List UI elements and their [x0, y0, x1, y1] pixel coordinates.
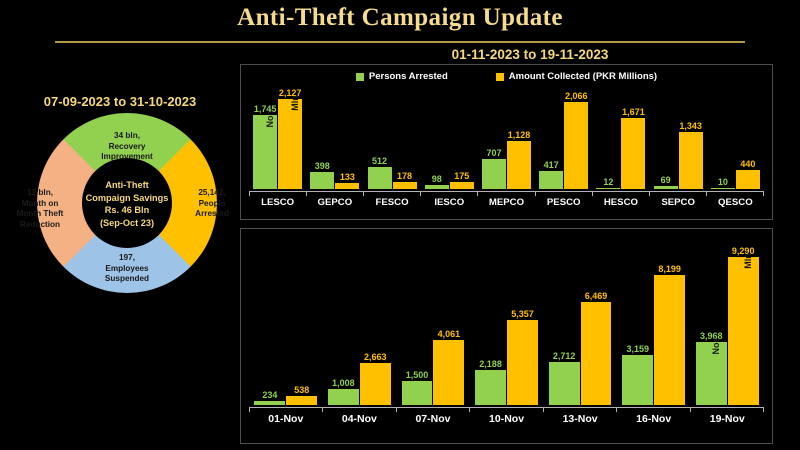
- chart-legend: Persons Arrested Amount Collected (PKR M…: [241, 71, 772, 82]
- bar-value-label: 1,671: [622, 107, 645, 117]
- bar-value-label: 3,159: [626, 344, 649, 354]
- bar-group: 2,1885,357: [470, 237, 544, 405]
- bar[interactable]: [507, 141, 531, 189]
- bar[interactable]: [286, 396, 317, 405]
- donut-center-text: Anti-Theft Compaign Savings Rs. 46 Bln (…: [75, 179, 179, 229]
- bar-slot[interactable]: 178: [393, 87, 417, 189]
- bar-slot[interactable]: 512: [368, 87, 392, 189]
- bar-slot[interactable]: 1,500: [402, 237, 433, 405]
- x-axis-label: 19-Nov: [690, 413, 764, 425]
- x-tick: [307, 192, 364, 196]
- bar-value-label: 234: [262, 390, 277, 400]
- donut-center-line2: Compaign Savings: [75, 192, 179, 205]
- bar-slot[interactable]: 133: [335, 87, 359, 189]
- bar-value-label: 2,712: [553, 351, 576, 361]
- bar-group: 1,745Nos2,127Mln: [249, 87, 306, 189]
- donut-label-line: 34 bln,: [77, 131, 177, 142]
- bar-group: 1,5004,061: [396, 237, 470, 405]
- bar-slot[interactable]: 2,127Mln: [278, 87, 302, 189]
- bar-group: 691,343: [650, 87, 707, 189]
- bar[interactable]: [360, 363, 391, 405]
- x-axis-label: 13-Nov: [543, 413, 617, 425]
- legend-label-amount-collected: Amount Collected (PKR Millions): [509, 71, 657, 82]
- date-range-left: 07-09-2023 to 31-10-2023: [10, 94, 230, 109]
- bar[interactable]: [328, 389, 359, 405]
- bar-slot[interactable]: 2,663: [360, 237, 391, 405]
- bar[interactable]: [654, 275, 685, 405]
- bar-slot[interactable]: 1,343: [679, 87, 703, 189]
- slide-canvas: Anti-Theft Campaign Update 01-11-2023 to…: [0, 0, 800, 450]
- bar[interactable]: [450, 182, 474, 189]
- legend-swatch-green: [356, 73, 364, 81]
- bar[interactable]: Mln: [278, 99, 302, 189]
- bar[interactable]: [475, 370, 506, 405]
- bar-unit-tag: Nos: [265, 111, 275, 128]
- x-tick: [617, 408, 690, 412]
- x-axis-label: GEPCO: [306, 197, 363, 208]
- bar-slot[interactable]: 3,159: [622, 237, 653, 405]
- bar[interactable]: [549, 362, 580, 405]
- bar-value-label: 2,066: [565, 91, 588, 101]
- donut-label-line: Employees: [77, 264, 177, 275]
- x-tick: [470, 408, 543, 412]
- bar-value-label: 133: [340, 172, 355, 182]
- bar[interactable]: [654, 186, 678, 189]
- bar-slot[interactable]: 3,968Nos: [696, 237, 727, 405]
- bar-group: 4172,066: [535, 87, 592, 189]
- bar-value-label: 69: [661, 175, 671, 185]
- bar-value-label: 512: [372, 156, 387, 166]
- bar[interactable]: [679, 132, 703, 189]
- bar-slot[interactable]: 398: [310, 87, 334, 189]
- bar-group: 121,671: [592, 87, 649, 189]
- x-tick: [397, 408, 470, 412]
- discos-chart-panel: Persons Arrested Amount Collected (PKR M…: [240, 64, 773, 220]
- donut-label-theft-reduction: 12 bln,Month onMonth TheftReduction: [5, 188, 75, 230]
- discos-x-ticks: [249, 192, 764, 196]
- donut-label-employees-suspended: 197,EmployeesSuspended: [77, 253, 177, 285]
- bar-slot[interactable]: 9,290Mln: [728, 237, 759, 405]
- x-axis-label: HESCO: [592, 197, 649, 208]
- bar-slot[interactable]: 69: [654, 87, 678, 189]
- bar[interactable]: [621, 118, 645, 189]
- donut-label-line: 197,: [77, 253, 177, 264]
- bar-value-label: 1,008: [332, 378, 355, 388]
- donut-label-line: Reduction: [5, 220, 75, 231]
- donut-label-line: Arrested: [177, 209, 247, 220]
- donut-label-line: 12 bln,: [5, 188, 75, 199]
- bar-unit-tag: Mln: [743, 253, 753, 269]
- bar-slot[interactable]: 417: [539, 87, 563, 189]
- bar-slot[interactable]: 10: [711, 87, 735, 189]
- bar-group: 3,1598,199: [617, 237, 691, 405]
- title-divider: [55, 41, 745, 43]
- daily-plot-area: 2345381,0082,6631,5004,0612,1885,3572,71…: [249, 237, 764, 405]
- bar[interactable]: [539, 171, 563, 189]
- x-axis-label: QESCO: [707, 197, 764, 208]
- bar[interactable]: [425, 185, 449, 189]
- bar-value-label: 8,199: [658, 264, 681, 274]
- bar-unit-tag: Nos: [711, 337, 721, 354]
- bar-value-label: 4,061: [438, 329, 461, 339]
- x-tick: [691, 408, 764, 412]
- bar-slot[interactable]: 1,745Nos: [253, 87, 277, 189]
- bar-group: 234538: [249, 237, 323, 405]
- bar-value-label: 1,500: [406, 370, 429, 380]
- donut-label-recovery-improvement: 34 bln,RecoveryImprovement: [77, 131, 177, 163]
- x-axis-label: PESCO: [535, 197, 592, 208]
- x-tick: [544, 408, 617, 412]
- x-axis-label: 01-Nov: [249, 413, 323, 425]
- bar-group: 2,7126,469: [543, 237, 617, 405]
- bar-value-label: 6,469: [585, 291, 608, 301]
- donut-label-line: Recovery: [77, 142, 177, 153]
- bar[interactable]: [482, 159, 506, 189]
- bar[interactable]: [622, 355, 653, 405]
- donut-center-line3: Rs. 46 Bln: [75, 204, 179, 217]
- donut-label-line: Suspended: [77, 274, 177, 285]
- bar[interactable]: [393, 182, 417, 190]
- bar[interactable]: Nos: [253, 115, 277, 189]
- bar-group: 7071,128: [478, 87, 535, 189]
- bar-slot[interactable]: 12: [596, 87, 620, 189]
- legend-item-amount-collected: Amount Collected (PKR Millions): [496, 71, 657, 82]
- bar[interactable]: [736, 170, 760, 189]
- bar-value-label: 398: [315, 161, 330, 171]
- bar-slot[interactable]: 5,357: [507, 237, 538, 405]
- bar-value-label: 178: [397, 171, 412, 181]
- x-tick: [249, 408, 323, 412]
- bar-group: 512178: [363, 87, 420, 189]
- bar-value-label: 707: [486, 148, 501, 158]
- bar-slot[interactable]: 1,671: [621, 87, 645, 189]
- x-tick: [536, 192, 593, 196]
- bar-slot[interactable]: 2,712: [549, 237, 580, 405]
- x-axis-label: 10-Nov: [470, 413, 544, 425]
- bar[interactable]: [368, 167, 392, 189]
- daily-chart-panel: 2345381,0082,6631,5004,0612,1885,3572,71…: [240, 228, 773, 444]
- bar-value-label: 538: [294, 385, 309, 395]
- bar-unit-tag: Mln: [290, 96, 300, 112]
- donut-label-line: Month on: [5, 199, 75, 210]
- bar-slot[interactable]: 1,128: [507, 87, 531, 189]
- bar-group: 3,968Nos9,290Mln: [690, 237, 764, 405]
- donut-label-line: 25,142,: [177, 188, 247, 199]
- discos-plot-area: 1,745Nos2,127Mln398133512178981757071,12…: [249, 87, 764, 189]
- bar[interactable]: [402, 381, 433, 405]
- bar[interactable]: [596, 188, 620, 189]
- bar-group: 10440: [707, 87, 764, 189]
- donut-label-people-arrested: 25,142,PeopleArrested: [177, 188, 247, 220]
- bar[interactable]: [335, 183, 359, 189]
- x-tick: [650, 192, 707, 196]
- bar-value-label: 440: [740, 159, 755, 169]
- x-tick: [364, 192, 421, 196]
- donut-label-line: People: [177, 199, 247, 210]
- page-title: Anti-Theft Campaign Update: [0, 4, 800, 32]
- x-axis-label: 04-Nov: [323, 413, 397, 425]
- bar-slot[interactable]: 2,066: [564, 87, 588, 189]
- x-tick: [478, 192, 535, 196]
- bar-value-label: 175: [454, 171, 469, 181]
- bar[interactable]: [433, 340, 464, 405]
- x-axis-label: LESCO: [249, 197, 306, 208]
- daily-x-labels: 01-Nov04-Nov07-Nov10-Nov13-Nov16-Nov19-N…: [249, 413, 764, 425]
- bar-slot[interactable]: 707: [482, 87, 506, 189]
- x-axis-label: IESCO: [421, 197, 478, 208]
- bar[interactable]: Mln: [728, 257, 759, 405]
- bar-value-label: 98: [432, 174, 442, 184]
- bar-value-label: 2,188: [479, 359, 502, 369]
- bar-slot[interactable]: 2,188: [475, 237, 506, 405]
- x-tick: [323, 408, 396, 412]
- donut-label-line: Month Theft: [5, 209, 75, 220]
- bar-group: 398133: [306, 87, 363, 189]
- x-tick: [593, 192, 650, 196]
- bar-value-label: 417: [544, 160, 559, 170]
- bar-value-label: 2,663: [364, 352, 387, 362]
- campaign-savings-donut: Anti-Theft Compaign Savings Rs. 46 Bln (…: [37, 113, 217, 293]
- bar-value-label: 12: [603, 177, 613, 187]
- daily-x-ticks: [249, 408, 764, 412]
- bar-value-label: 5,357: [511, 309, 534, 319]
- legend-item-persons-arrested: Persons Arrested: [356, 71, 448, 82]
- bar-slot[interactable]: 175: [450, 87, 474, 189]
- bar[interactable]: [507, 320, 538, 405]
- x-tick: [421, 192, 478, 196]
- bar-slot[interactable]: 6,469: [581, 237, 612, 405]
- bar-slot[interactable]: 1,008: [328, 237, 359, 405]
- legend-label-persons-arrested: Persons Arrested: [369, 71, 448, 82]
- x-tick: [707, 192, 764, 196]
- bar[interactable]: [564, 102, 588, 189]
- bar-slot[interactable]: 98: [425, 87, 449, 189]
- bar-slot[interactable]: 4,061: [433, 237, 464, 405]
- bar[interactable]: Nos: [696, 342, 727, 405]
- bar-group: 98175: [421, 87, 478, 189]
- bar[interactable]: [711, 188, 735, 189]
- x-axis-label: SEPCO: [650, 197, 707, 208]
- x-tick: [249, 192, 307, 196]
- x-axis-label: FESCO: [363, 197, 420, 208]
- x-axis-label: 07-Nov: [396, 413, 470, 425]
- bar-value-label: 1,128: [508, 130, 531, 140]
- bar[interactable]: [581, 302, 612, 405]
- donut-label-line: Improvement: [77, 152, 177, 163]
- x-axis-label: MEPCO: [478, 197, 535, 208]
- bar-slot[interactable]: 8,199: [654, 237, 685, 405]
- date-range-right: 01-11-2023 to 19-11-2023: [330, 47, 730, 62]
- x-axis-label: 16-Nov: [617, 413, 691, 425]
- donut-center-line1: Anti-Theft: [75, 179, 179, 192]
- bar[interactable]: [254, 401, 285, 405]
- bar-slot[interactable]: 234: [254, 237, 285, 405]
- bar-value-label: 1,343: [679, 121, 702, 131]
- bar-value-label: 10: [718, 177, 728, 187]
- bar-group: 1,0082,663: [323, 237, 397, 405]
- bar[interactable]: [310, 172, 334, 189]
- bar-slot[interactable]: 440: [736, 87, 760, 189]
- legend-swatch-amber: [496, 73, 504, 81]
- bar-slot[interactable]: 538: [286, 237, 317, 405]
- donut-center-line4: (Sep-Oct 23): [75, 217, 179, 230]
- discos-x-labels: LESCOGEPCOFESCOIESCOMEPCOPESCOHESCOSEPCO…: [249, 197, 764, 208]
